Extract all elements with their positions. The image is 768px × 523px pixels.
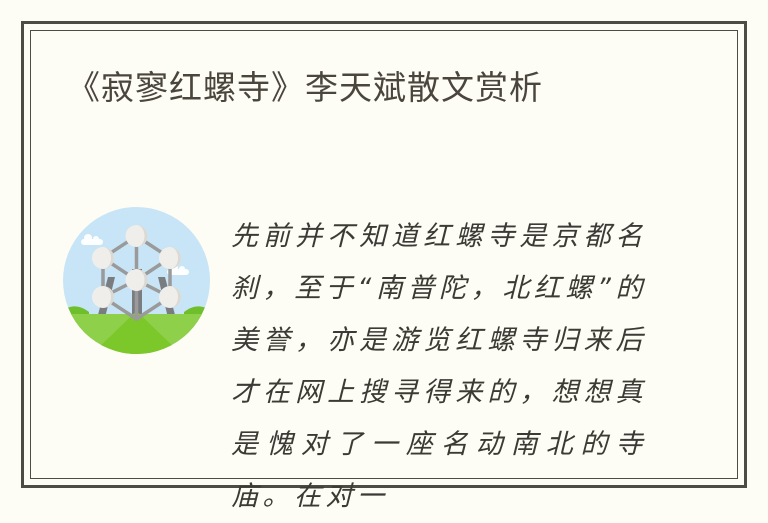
article-content: 先前并不知道红螺寺是京都名刹，至于“南普陀，北红螺”的美誉，亦是游览红螺寺归来后… [0, 0, 768, 510]
article-body-text: 先前并不知道红螺寺是京都名刹，至于“南普陀，北红螺”的美誉，亦是游览红螺寺归来后… [231, 211, 647, 523]
atomium-landmark-illustration [63, 207, 210, 354]
document-page: 《寂寥红螺寺》李天斌散文赏析 [0, 0, 768, 510]
atomium-icon [63, 207, 210, 354]
